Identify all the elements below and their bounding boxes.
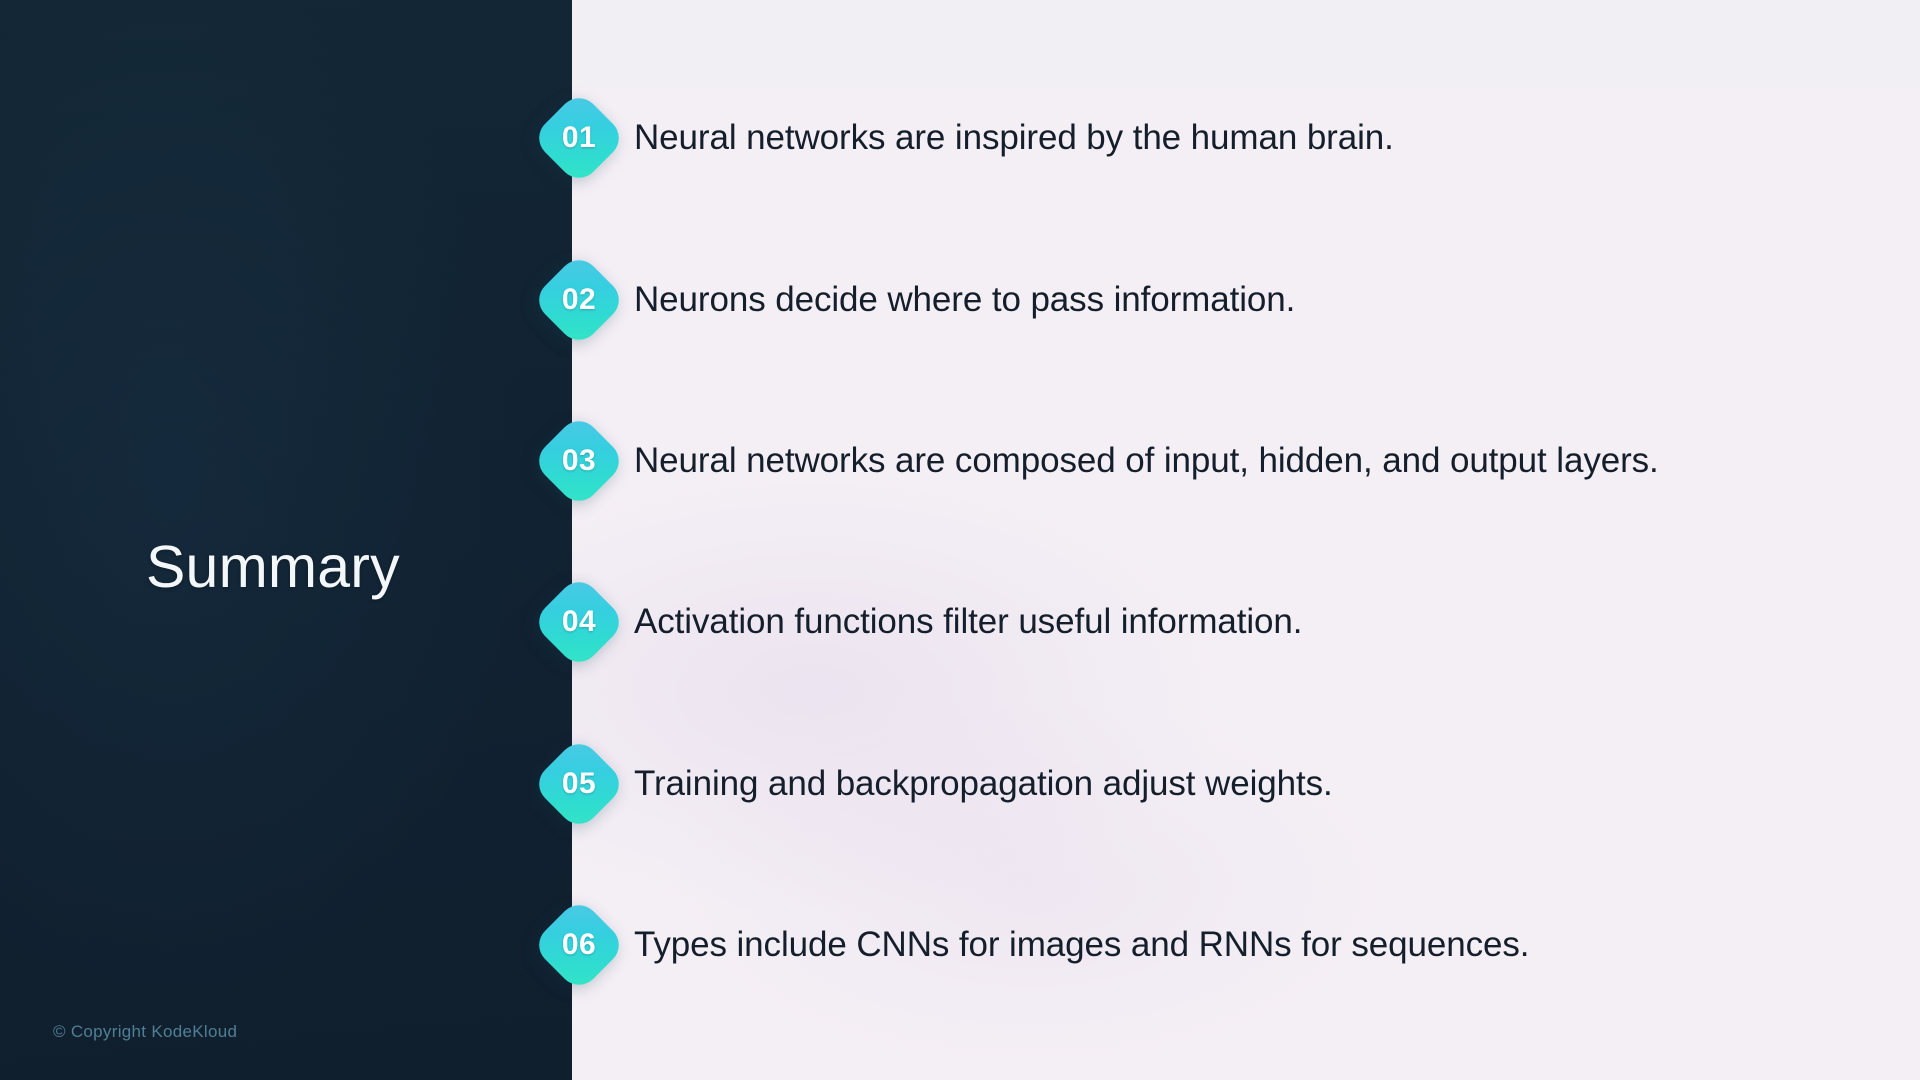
point-number-label: 03 (531, 413, 627, 509)
point-text: Activation functions filter useful infor… (634, 574, 1884, 670)
list-item: 04 Activation functions filter useful in… (0, 574, 1920, 670)
point-text: Neurons decide where to pass information… (634, 252, 1884, 348)
list-item: 02 Neurons decide where to pass informat… (0, 252, 1920, 348)
point-number-badge: 06 (531, 897, 627, 993)
summary-points-list: 01 Neural networks are inspired by the h… (0, 0, 1920, 1080)
list-item: 03 Neural networks are composed of input… (0, 413, 1920, 509)
point-number-label: 02 (531, 252, 627, 348)
point-number-badge: 03 (531, 413, 627, 509)
point-text: Neural networks are composed of input, h… (634, 413, 1884, 509)
point-text: Types include CNNs for images and RNNs f… (634, 897, 1884, 993)
point-number-badge: 04 (531, 574, 627, 670)
summary-slide: Summary 01 Neural networks are inspired … (0, 0, 1920, 1080)
point-text: Training and backpropagation adjust weig… (634, 736, 1884, 832)
list-item: 05 Training and backpropagation adjust w… (0, 736, 1920, 832)
list-item: 06 Types include CNNs for images and RNN… (0, 897, 1920, 993)
point-number-badge: 05 (531, 736, 627, 832)
point-number-label: 04 (531, 574, 627, 670)
point-number-badge: 02 (531, 252, 627, 348)
point-number-label: 06 (531, 897, 627, 993)
point-number-label: 05 (531, 736, 627, 832)
point-text: Neural networks are inspired by the huma… (634, 90, 1884, 186)
point-number-badge: 01 (531, 90, 627, 186)
list-item: 01 Neural networks are inspired by the h… (0, 90, 1920, 186)
copyright-notice: © Copyright KodeKloud (53, 1022, 237, 1042)
point-number-label: 01 (531, 90, 627, 186)
